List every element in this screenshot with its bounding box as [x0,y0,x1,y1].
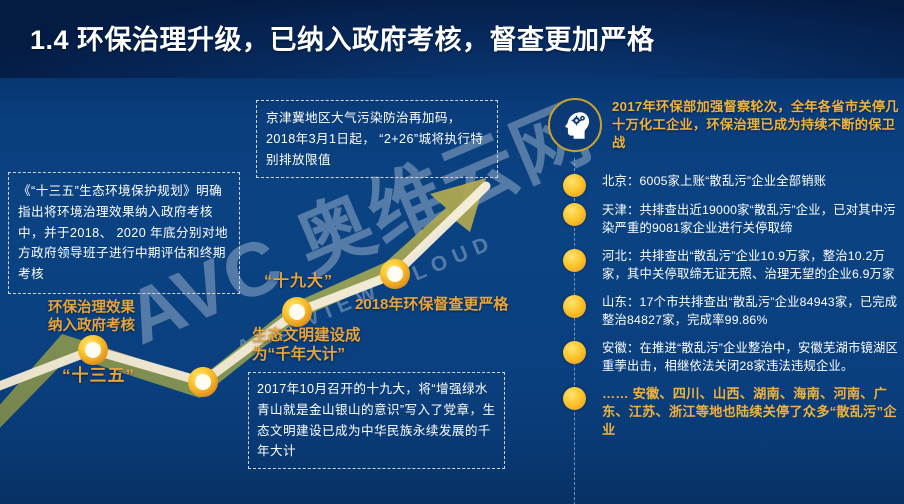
list-item[interactable]: 山东：17个市共排查出“散乱污”企业84943家，已完成整治84827家，完成率… [540,293,904,330]
list-item-label: 河北：共排查出“散乱污”企业10.9万家，整治10.2万家，其中关停取缔无证无照… [602,249,895,281]
chart-node-3[interactable] [282,297,312,327]
bullet-dot-icon [563,203,586,226]
list-item-label: 山东：17个市共排查出“散乱污”企业84943家，已完成整治84827家，完成率… [602,295,897,327]
chart-annotation-d: 生态文明建设成 为“千年大计” [252,327,361,365]
bullet-dot-icon [563,295,586,318]
list-item[interactable]: 天津：共排查出近19000家“散乱污”企业，已对其中污染严重的9081家企业进行… [540,201,904,238]
right-panel: 2017年环保部加强督察轮次，全年各省市关停几十万化工企业，环保治理已成为持续不… [540,96,904,496]
list-item-label: 天津：共排查出近19000家“散乱污”企业，已对其中污染严重的9081家企业进行… [602,203,896,235]
list-item-label: 北京：6005家上账“散乱污”企业全部销账 [602,174,826,188]
list-item-label: …… 安徽、四川、山西、湖南、海南、河南、广东、江苏、浙江等地也陆续关停了众多“… [602,386,897,437]
chart-annotation-c: “十九大” [264,272,333,292]
page-title: 1.4 环保治理升级，已纳入政府考核，督查更加严格 [30,18,655,57]
bullet-dot-icon [563,249,586,272]
callout-left: 《“十三五”生态环境保护规划》明确指出将环境治理效果纳入政府考核中，并于2018… [8,172,240,294]
bullet-dot-icon [563,174,586,197]
chart-annotation-b: “十三五” [62,366,135,387]
list-item[interactable]: 河北：共排查出“散乱污”企业10.9万家，整治10.2万家，其中关停取缔无证无照… [540,247,904,284]
right-panel-bullet-list: 北京：6005家上账“散乱污”企业全部销账 天津：共排查出近19000家“散乱污… [540,172,904,448]
chart-node-2[interactable] [188,367,218,397]
right-panel-header: 2017年环保部加强督察轮次，全年各省市关停几十万化工企业，环保治理已成为持续不… [540,96,904,162]
bullet-dot-icon [563,387,586,410]
list-item[interactable]: 安徽：在推进“散乱污”企业整治中，安徽芜湖市镜湖区重荸出击，相继依法关闭28家违… [540,339,904,376]
right-panel-title: 2017年环保部加强督察轮次，全年各省市关停几十万化工企业，环保治理已成为持续不… [612,98,900,153]
list-item-label: 安徽：在推进“散乱污”企业整治中，安徽芜湖市镜湖区重荸出击，相继依法关闭28家违… [602,341,898,373]
chart-annotation-a: 环保治理效果 纳入政府考核 [48,300,135,335]
callout-top: 京津冀地区大气污染防治再加码，2018年3月1日起， “2+26”城将执行特别排… [256,100,498,178]
chart-node-1[interactable] [78,335,108,365]
slide-root: 1.4 环保治理升级，已纳入政府考核，督查更加严格 AVC 奥维云网 ALL V… [0,0,904,504]
chart-node-4[interactable] [380,259,410,289]
list-item[interactable]: …… 安徽、四川、山西、湖南、海南、河南、广东、江苏、浙江等地也陆续关停了众多“… [540,385,904,440]
chart-annotation-e: 2018年环保督查更严格 [355,296,508,314]
bullet-dot-icon [563,341,586,364]
head-with-gears-icon [548,98,602,152]
callout-bottom: 2017年10月召开的十九大，将“增强绿水青山就是金山银山的意识”写入了党章，生… [248,372,505,469]
list-item[interactable]: 北京：6005家上账“散乱污”企业全部销账 [540,172,904,192]
